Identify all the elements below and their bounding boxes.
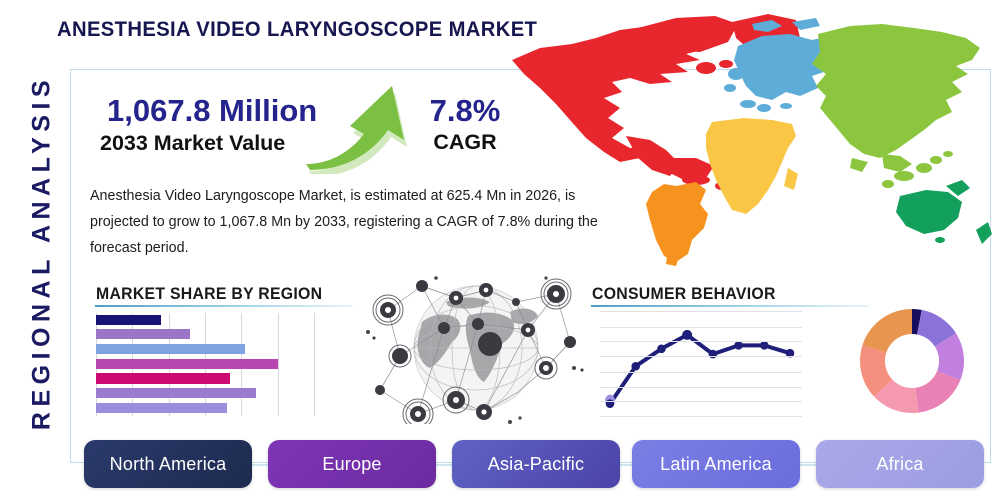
bar-chart-bar <box>96 403 227 413</box>
region-pill-label: Latin America <box>660 454 772 475</box>
infographic-page: REGIONAL ANALYSIS ANESTHESIA VIDEO LARYN… <box>0 0 1000 500</box>
consumer-behavior-line-chart <box>600 311 802 416</box>
region-pill-europe[interactable]: Europe <box>268 440 436 488</box>
cagr-block: 7.8% CAGR <box>410 93 520 155</box>
line-chart-gridline <box>600 387 802 388</box>
bar-fill <box>96 388 256 398</box>
map-region-latin-america <box>646 182 708 266</box>
bar-fill <box>96 403 227 413</box>
market-share-bar-chart <box>96 313 314 416</box>
growth-arrow-svg <box>300 84 420 174</box>
region-pill-label: Africa <box>876 454 923 475</box>
bar-chart-bar <box>96 388 256 398</box>
line-chart-gridline <box>600 416 802 417</box>
hero-market-value-caption: 2033 Market Value <box>100 131 285 156</box>
region-pill-asia-pacific[interactable]: Asia-Pacific <box>452 440 620 488</box>
line-chart-gridline <box>600 311 802 312</box>
bar-chart-gridline <box>314 313 315 416</box>
region-pill-label: North America <box>110 454 227 475</box>
global-network-svg <box>360 272 592 424</box>
map-region-oceania <box>896 180 992 244</box>
market-share-heading-rule <box>95 305 353 307</box>
consumer-behavior-heading-rule <box>591 305 869 307</box>
line-chart-gridline <box>600 401 802 402</box>
growth-arrow-icon <box>300 84 420 174</box>
global-network-illustration <box>360 272 592 424</box>
region-pill-label: Europe <box>322 454 381 475</box>
donut-chart-svg <box>858 307 966 415</box>
bar-chart-bar <box>96 344 245 354</box>
page-title: ANESTHESIA VIDEO LARYNGOSCOPE MARKET <box>57 17 537 42</box>
donut-segment <box>863 309 912 353</box>
bar-chart-bar <box>96 315 161 325</box>
bar-fill <box>96 315 161 325</box>
map-region-africa <box>706 118 798 214</box>
line-chart-gridline <box>600 341 802 342</box>
region-pill-latin-america[interactable]: Latin America <box>632 440 800 488</box>
bar-chart-bar <box>96 359 278 369</box>
bar-fill <box>96 344 245 354</box>
vertical-side-label: REGIONAL ANALYSIS <box>28 63 57 443</box>
line-chart-gridline <box>600 327 802 328</box>
consumer-behavior-heading: CONSUMER BEHAVIOR <box>592 284 776 304</box>
consumer-behavior-donut-chart <box>858 307 966 415</box>
hero-market-value: 1,067.8 Million <box>107 93 317 129</box>
bar-chart-bar <box>96 329 190 339</box>
bar-chart-gridline <box>278 313 279 416</box>
line-chart-gridlines <box>600 311 802 416</box>
map-region-asia-pacific <box>812 24 980 188</box>
region-pill-label: Asia-Pacific <box>488 454 584 475</box>
region-pill-africa[interactable]: Africa <box>816 440 984 488</box>
bar-fill <box>96 359 278 369</box>
bar-fill <box>96 373 230 383</box>
cagr-label: CAGR <box>410 129 520 155</box>
line-chart-gridline <box>600 372 802 373</box>
market-share-heading: MARKET SHARE BY REGION <box>96 284 322 304</box>
bar-chart-bar <box>96 373 230 383</box>
cagr-value: 7.8% <box>410 93 520 129</box>
summary-paragraph: Anesthesia Video Laryngoscope Market, is… <box>90 183 600 261</box>
region-pill-north-america[interactable]: North America <box>84 440 252 488</box>
bar-fill <box>96 329 190 339</box>
line-chart-gridline <box>600 356 802 357</box>
